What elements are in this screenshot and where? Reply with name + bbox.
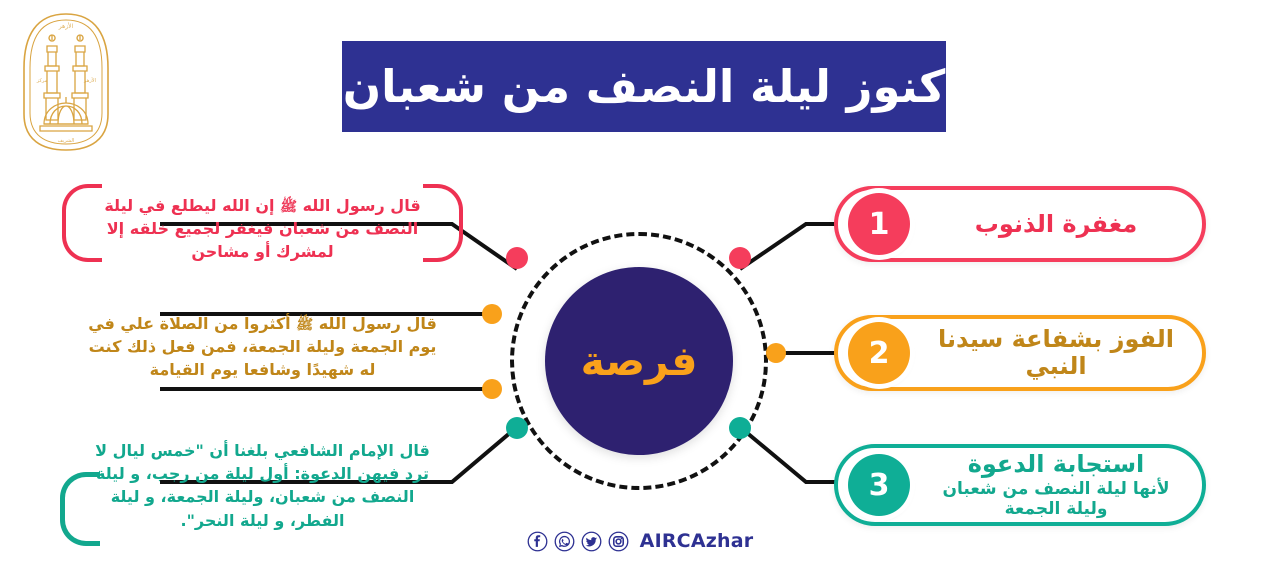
benefit-title-3: استجابة الدعوة xyxy=(924,451,1188,478)
benefit-number-2: 2 xyxy=(869,336,890,371)
benefit-number-3: 3 xyxy=(869,468,890,503)
dot-orange-left-lower xyxy=(482,379,502,399)
benefit-pill-answered-prayer[interactable]: 3 استجابة الدعوة لأنها ليلة النصف من شعب… xyxy=(834,444,1206,526)
benefit-badge-3: 3 xyxy=(848,454,910,516)
quote-imam-shafii: قال الإمام الشافعي بلغنا أن "خمس ليال لا… xyxy=(70,437,455,534)
quote-prefix: قال الإمام الشافعي xyxy=(274,441,430,460)
dot-teal-right xyxy=(729,417,751,439)
benefit-pill-intercession[interactable]: 2 الفوز بشفاعة سيدنا النبي xyxy=(834,315,1206,391)
sallallahu-icon: ﷺ xyxy=(280,199,297,215)
page-title-bar: كنوز ليلة النصف من شعبان xyxy=(342,41,946,132)
page-title: كنوز ليلة النصف من شعبان xyxy=(343,64,946,109)
benefit-badge-2: 2 xyxy=(848,322,910,384)
al-azhar-logo: الأزهر مركز الأزهر الشريف xyxy=(14,6,118,156)
benefit-title-1: مغفرة الذنوب xyxy=(924,211,1188,238)
quote-prefix: قال رسول الله xyxy=(319,314,437,333)
benefit-body-3: استجابة الدعوة لأنها ليلة النصف من شعبان… xyxy=(918,451,1202,519)
footer-handle: AIRCAzhar xyxy=(640,530,754,552)
benefit-number-1: 1 xyxy=(869,207,890,242)
benefit-pill-forgiveness[interactable]: 1 مغفرة الذنوب xyxy=(834,186,1206,262)
dot-pink-left xyxy=(506,247,528,269)
svg-text:الأزهر: الأزهر xyxy=(58,22,74,30)
benefit-badge-1: 1 xyxy=(848,193,910,255)
svg-text:مركز: مركز xyxy=(36,78,48,84)
quote-hadith-mid-shaban: قال رسول الله ﷺ إن الله ليطلع في ليلة ال… xyxy=(70,192,455,266)
hub-core-label: فرصة xyxy=(581,341,698,382)
dot-orange-right xyxy=(766,343,786,363)
svg-text:الشريف: الشريف xyxy=(58,138,75,144)
dot-teal-left xyxy=(506,417,528,439)
twitter-icon[interactable] xyxy=(581,531,602,552)
svg-text:الأزهر: الأزهر xyxy=(83,77,96,84)
infographic-root: الأزهر مركز الأزهر الشريف كنوز ليلة النص… xyxy=(0,0,1280,584)
facebook-icon[interactable] xyxy=(527,531,548,552)
sallallahu-icon: ﷺ xyxy=(296,317,313,333)
quote-hadith-friday-salawat: قال رسول الله ﷺ أكثروا من الصلاة علي في … xyxy=(70,310,455,384)
benefit-body-2: الفوز بشفاعة سيدنا النبي xyxy=(918,326,1202,380)
benefit-body-1: مغفرة الذنوب xyxy=(918,211,1202,238)
hub-core-circle: فرصة xyxy=(545,267,733,455)
whatsapp-icon[interactable] xyxy=(554,531,575,552)
quote-prefix: قال رسول الله xyxy=(303,196,421,215)
benefit-subtitle-3: لأنها ليلة النصف من شعبان وليلة الجمعة xyxy=(924,479,1188,519)
dot-pink-right xyxy=(729,247,751,269)
instagram-icon[interactable] xyxy=(608,531,629,552)
dot-orange-left-upper xyxy=(482,304,502,324)
benefit-title-2: الفوز بشفاعة سيدنا النبي xyxy=(924,326,1188,380)
